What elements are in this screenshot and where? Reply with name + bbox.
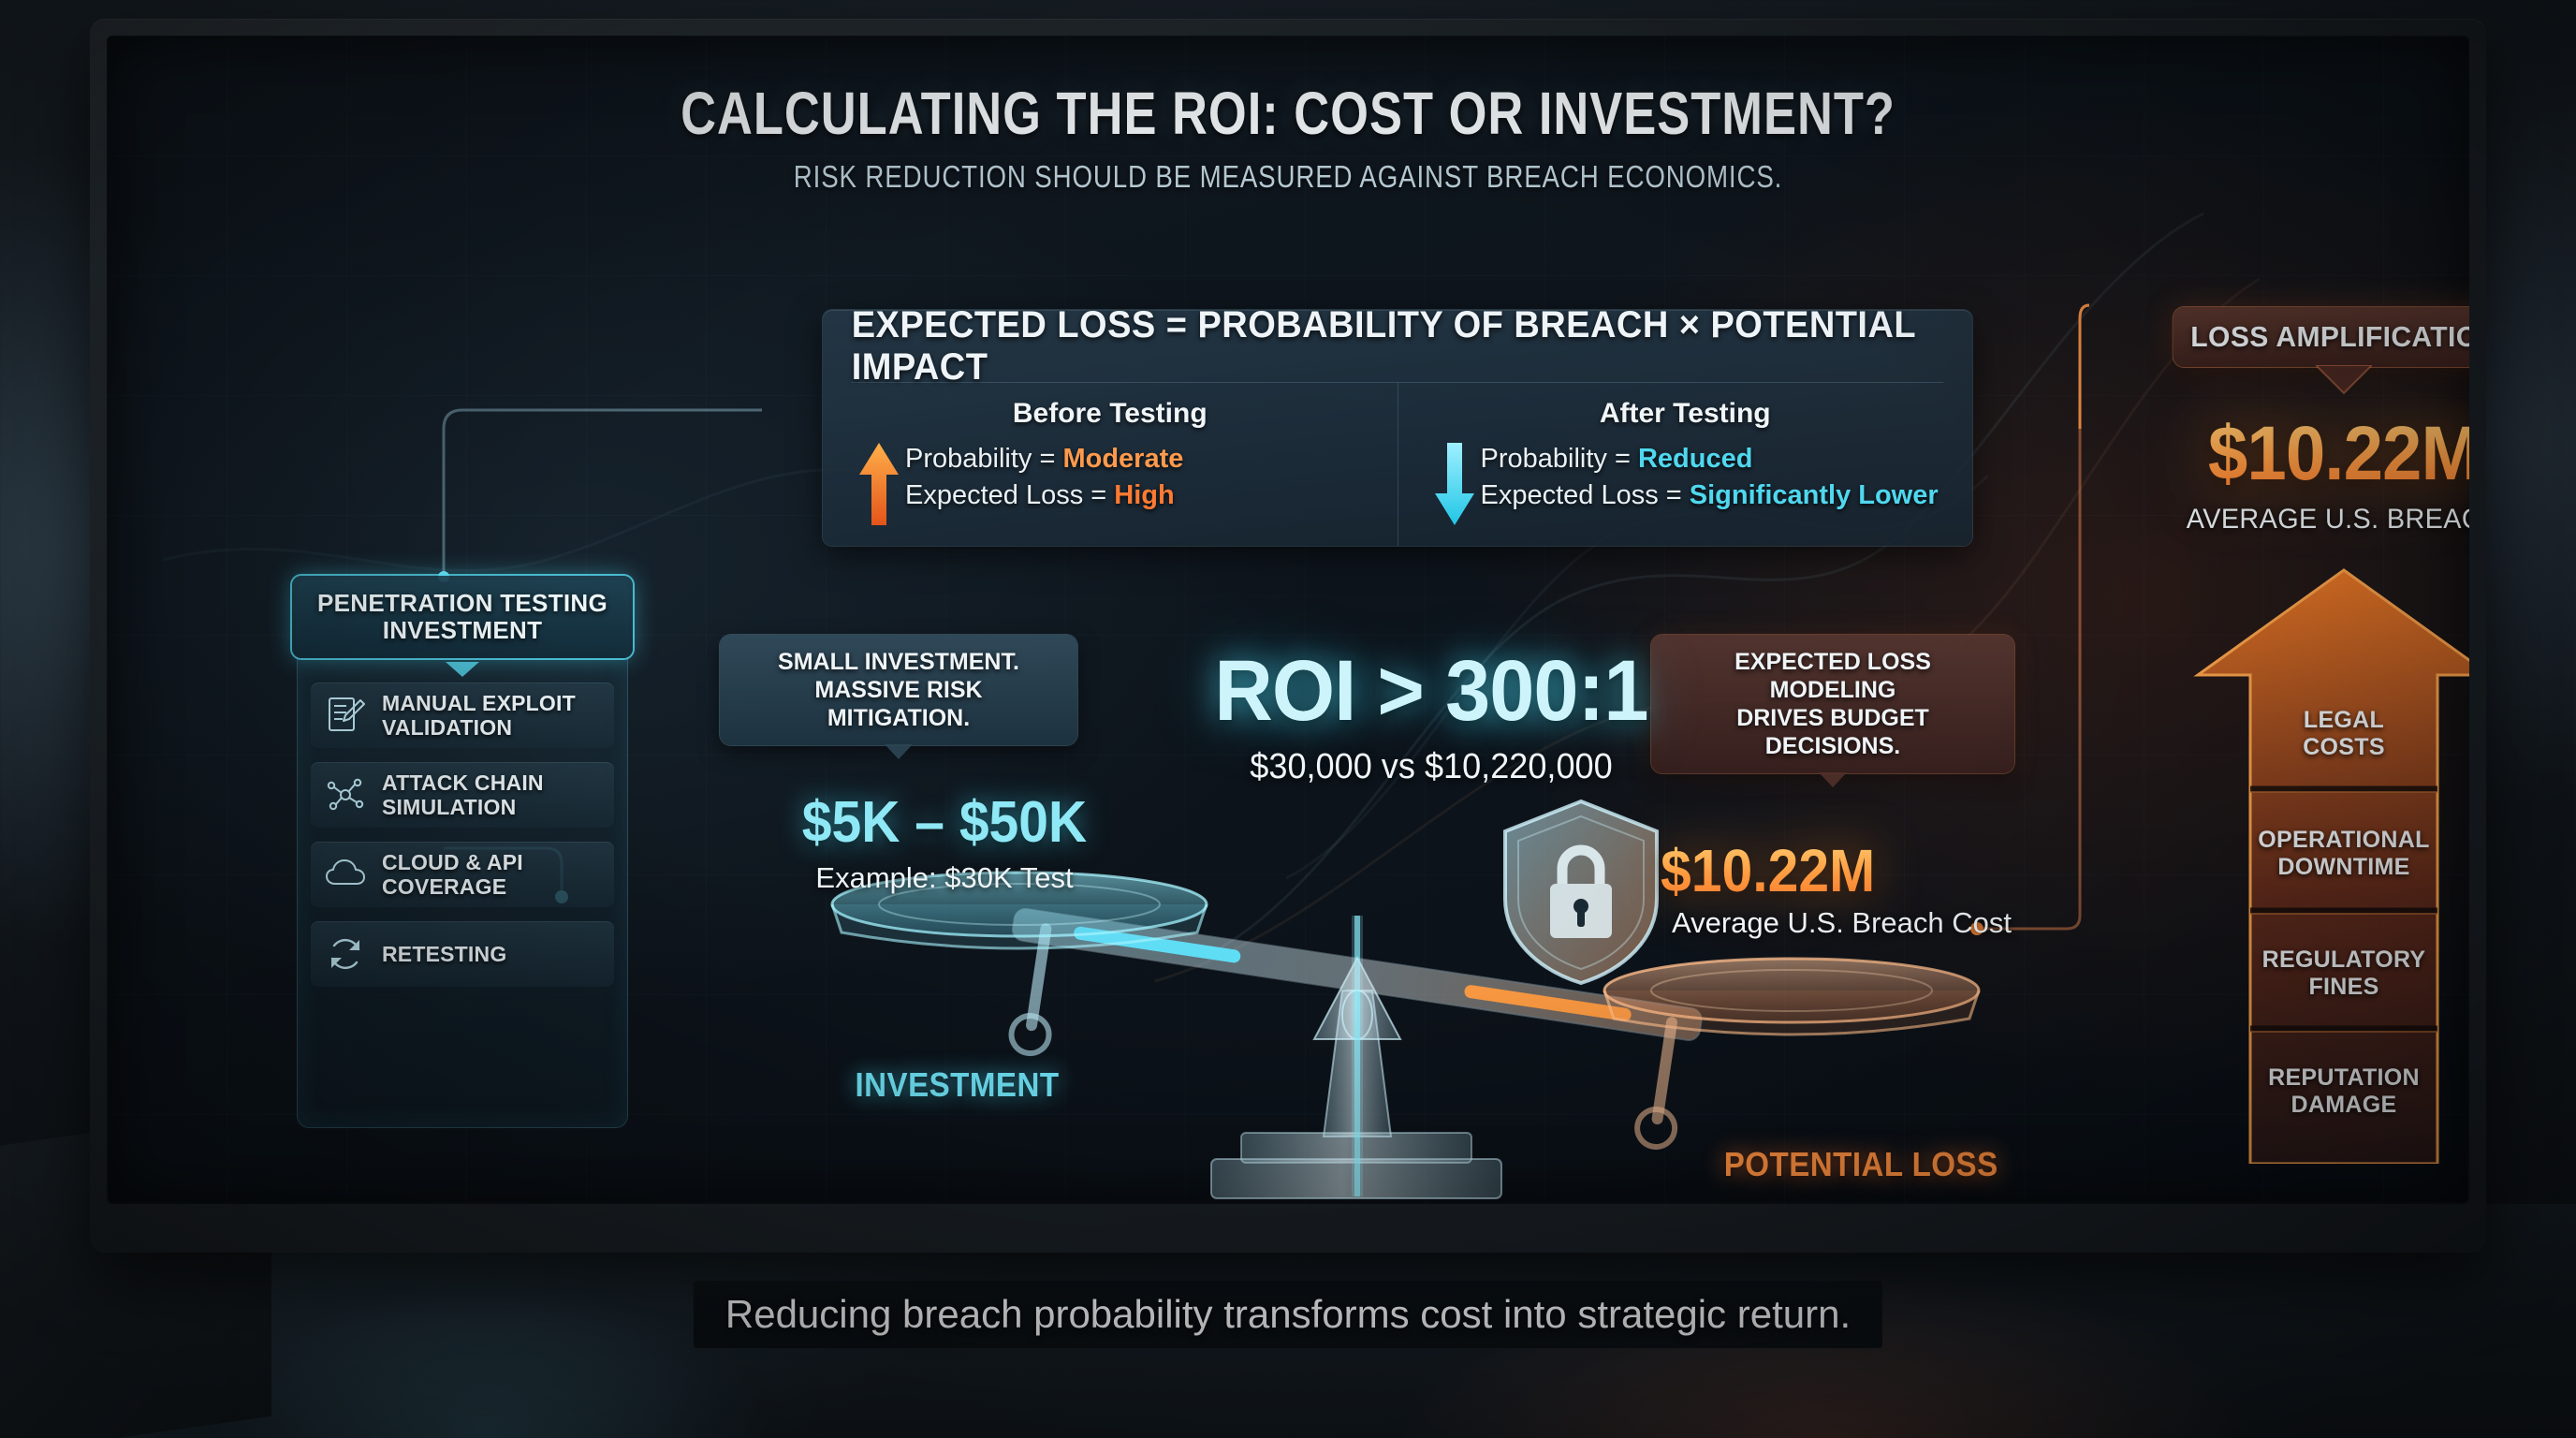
after-testing-column: After Testing Probability = Reduced Expe… [1398, 383, 1973, 546]
item-1-line2: SIMULATION [382, 795, 544, 819]
formula-columns: Before Testing Probability = Moderate Ex… [823, 383, 1972, 546]
callout-right-tail [1819, 772, 1847, 787]
after-testing-title: After Testing [1425, 398, 1947, 430]
cloud-icon [324, 853, 367, 896]
arrow-segment-legal-costs: LEGAL COSTS [2244, 707, 2444, 761]
penetration-testing-investment-panel: PENETRATION TESTING INVESTMENT MANUAL EX… [298, 581, 627, 1127]
list-item-attack-chain-simulation[interactable]: ATTACK CHAIN SIMULATION [311, 762, 614, 828]
after-testing-rows: Probability = Reduced Expected Loss = Si… [1425, 441, 1947, 515]
loss-amplification-amount: $10.22M [2161, 410, 2469, 498]
page-title: CALCULATING THE ROI: COST OR INVESTMENT? [319, 79, 2257, 148]
after-probability-label: Probability = [1481, 444, 1638, 474]
list-item-cloud-api-coverage[interactable]: CLOUD & API COVERAGE [311, 842, 614, 907]
desk-glow-cyan [206, 1279, 768, 1438]
segment-3-line1: REPUTATION [2244, 1064, 2444, 1092]
up-arrow-icon [858, 441, 900, 527]
after-probability-value: Reduced [1638, 444, 1752, 474]
segment-1-line1: OPERATIONAL [2244, 827, 2444, 854]
before-loss-value: High [1114, 480, 1174, 510]
page-subtitle: RISK REDUCTION SHOULD BE MEASURED AGAINS… [296, 159, 2280, 195]
callout-small-investment: SMALL INVESTMENT. MASSIVE RISK MITIGATIO… [720, 635, 1077, 745]
before-probability-label: Probability = [905, 444, 1062, 474]
investment-amount: $5K – $50K [777, 789, 1113, 856]
segment-2-line1: REGULATORY [2244, 946, 2444, 974]
before-probability-row: Probability = Moderate [905, 441, 1183, 477]
investment-panel-heading: PENETRATION TESTING INVESTMENT [292, 576, 633, 658]
refresh-cycle-icon [324, 932, 367, 976]
item-2-line2: COVERAGE [382, 874, 523, 899]
document-pencil-icon [324, 694, 367, 737]
before-probability-value: Moderate [1062, 444, 1183, 474]
after-loss-label: Expected Loss = [1481, 480, 1690, 510]
item-0-line1: MANUAL EXPLOIT [382, 691, 576, 715]
callout-left-tail [885, 744, 913, 759]
list-item-label: ATTACK CHAIN SIMULATION [382, 770, 544, 819]
pan-label-potential-loss: POTENTIAL LOSS [1724, 1145, 1998, 1184]
list-item-manual-exploit-validation[interactable]: MANUAL EXPLOIT VALIDATION [311, 682, 614, 748]
shield-lock-icon [1492, 794, 1670, 990]
after-probability-row: Probability = Reduced [1481, 441, 1939, 477]
before-loss-row: Expected Loss = High [905, 477, 1183, 514]
item-0-line2: VALIDATION [382, 715, 576, 740]
after-loss-row: Expected Loss = Significantly Lower [1481, 477, 1939, 514]
before-loss-label: Expected Loss = [905, 480, 1114, 510]
loss-amplification-badge: LOSS AMPLIFICATION [2173, 307, 2469, 367]
monitor-bezel: CALCULATING THE ROI: COST OR INVESTMENT?… [90, 19, 2486, 1253]
loss-amplification-caption: AVERAGE U.S. BREACH [2155, 504, 2469, 536]
segment-1-line2: DOWNTIME [2244, 854, 2444, 881]
loss-amplification-arrow: LEGAL COSTS OPERATIONAL DOWNTIME REGULAT… [2192, 565, 2469, 1164]
item-2-line1: CLOUD & API [382, 850, 523, 874]
breach-cost-caption: Average U.S. Breach Cost [1672, 906, 2074, 940]
loss-badge-tail [2316, 365, 2372, 395]
after-loss-value: Significantly Lower [1690, 480, 1939, 510]
callout-left-line1: SMALL INVESTMENT. [740, 648, 1057, 676]
segment-2-line2: FINES [2244, 974, 2444, 1001]
screen: CALCULATING THE ROI: COST OR INVESTMENT?… [107, 36, 2469, 1204]
segment-3-line2: DAMAGE [2244, 1092, 2444, 1119]
investment-panel-heading-line2: INVESTMENT [383, 617, 543, 644]
before-testing-column: Before Testing Probability = Moderate Ex… [823, 383, 1398, 546]
item-1-line1: ATTACK CHAIN [382, 770, 544, 795]
arrow-segment-regulatory-fines: REGULATORY FINES [2244, 946, 2444, 1001]
roi-comparison: $30,000 vs $10,220,000 [1142, 747, 1720, 787]
arrow-segment-reputation-damage: REPUTATION DAMAGE [2244, 1064, 2444, 1119]
bottom-caption: Reducing breach probability transforms c… [694, 1281, 1882, 1348]
page-header: CALCULATING THE ROI: COST OR INVESTMENT?… [107, 79, 2469, 195]
attack-chain-network-icon [324, 773, 367, 816]
callout-left-line2: MASSIVE RISK MITIGATION. [740, 676, 1057, 732]
down-arrow-icon [1434, 441, 1475, 527]
segment-0-line2: COSTS [2244, 734, 2444, 761]
item-3-line1: RETESTING [382, 942, 506, 966]
list-item-retesting[interactable]: RETESTING [311, 921, 614, 987]
arrow-segment-operational-downtime: OPERATIONAL DOWNTIME [2244, 827, 2444, 881]
segment-0-line1: LEGAL [2244, 707, 2444, 734]
before-testing-rows: Probability = Moderate Expected Loss = H… [849, 441, 1371, 515]
pan-label-investment: INVESTMENT [855, 1065, 1059, 1105]
investment-panel-heading-line1: PENETRATION TESTING [317, 590, 607, 617]
list-item-label: RETESTING [382, 942, 506, 966]
roi-headline: ROI > 300:1 [1146, 642, 1718, 741]
list-item-label: MANUAL EXPLOIT VALIDATION [382, 691, 576, 740]
formula-equation: EXPECTED LOSS = PROBABILITY OF BREACH × … [852, 310, 1944, 383]
expected-loss-formula-box: EXPECTED LOSS = PROBABILITY OF BREACH × … [823, 310, 1972, 546]
before-testing-title: Before Testing [849, 398, 1371, 430]
investment-panel-notch [446, 662, 479, 677]
callout-right-line1: EXPECTED LOSS MODELING [1672, 648, 1994, 704]
list-item-label: CLOUD & API COVERAGE [382, 850, 523, 899]
breach-cost-amount: $10.22M [1661, 836, 2022, 905]
investment-example: Example: $30K Test [762, 861, 1127, 895]
